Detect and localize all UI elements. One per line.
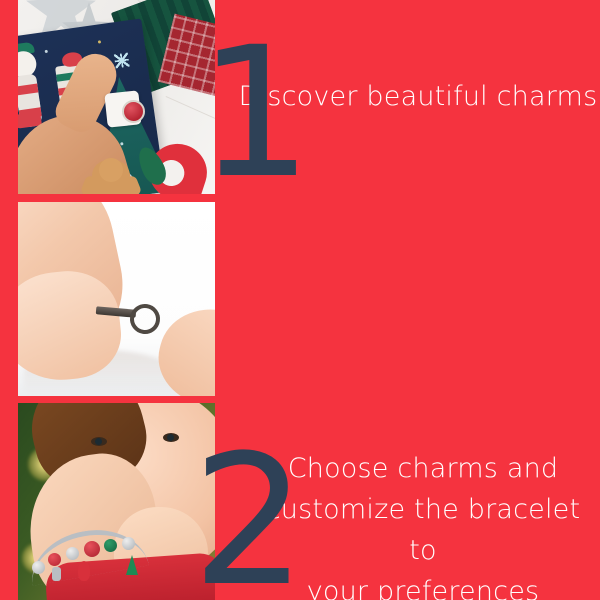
instructional-infographic: 1 Discover beautiful charms 2 Choose cha… <box>0 0 600 600</box>
step-2-line-2: customize the bracelet to <box>258 489 588 571</box>
red-stocking-charm <box>78 561 90 581</box>
step-number-2: 2 <box>192 432 307 600</box>
step-2-line-3: your preferences <box>258 571 588 600</box>
jump-ring-assembly-scene <box>18 202 215 396</box>
step-1-photo <box>18 0 215 194</box>
girl-with-bracelet-scene <box>18 403 215 600</box>
step-1: 1 Discover beautiful charms <box>0 0 600 194</box>
bracelet-bead-silver <box>32 561 45 574</box>
eye-right <box>163 433 179 442</box>
bracelet-bead-green <box>104 539 117 552</box>
eye-left <box>91 437 107 446</box>
step-3-photo <box>18 403 215 600</box>
red-charm-bead <box>122 100 145 123</box>
bracelet-bead-red <box>48 553 61 566</box>
bracelet-bead-silver-2 <box>66 547 79 560</box>
step-2: 2 Choose charms and customize the bracel… <box>0 202 600 396</box>
snowflake-icon-2 <box>114 53 130 69</box>
step-2-text: Choose charms and customize the bracelet… <box>258 448 588 600</box>
bracelet-bead-silver-3 <box>122 537 135 550</box>
advent-calendar-scene <box>18 0 215 194</box>
step-2-photo <box>18 202 215 396</box>
step-number-1: 1 <box>198 24 313 204</box>
bracelet-bead-red-2 <box>84 541 100 557</box>
gingerbread-man-charm <box>92 160 130 194</box>
step-2-line-1: Choose charms and <box>258 448 588 489</box>
stocking-graphic <box>18 74 43 129</box>
silver-charm <box>52 567 61 581</box>
